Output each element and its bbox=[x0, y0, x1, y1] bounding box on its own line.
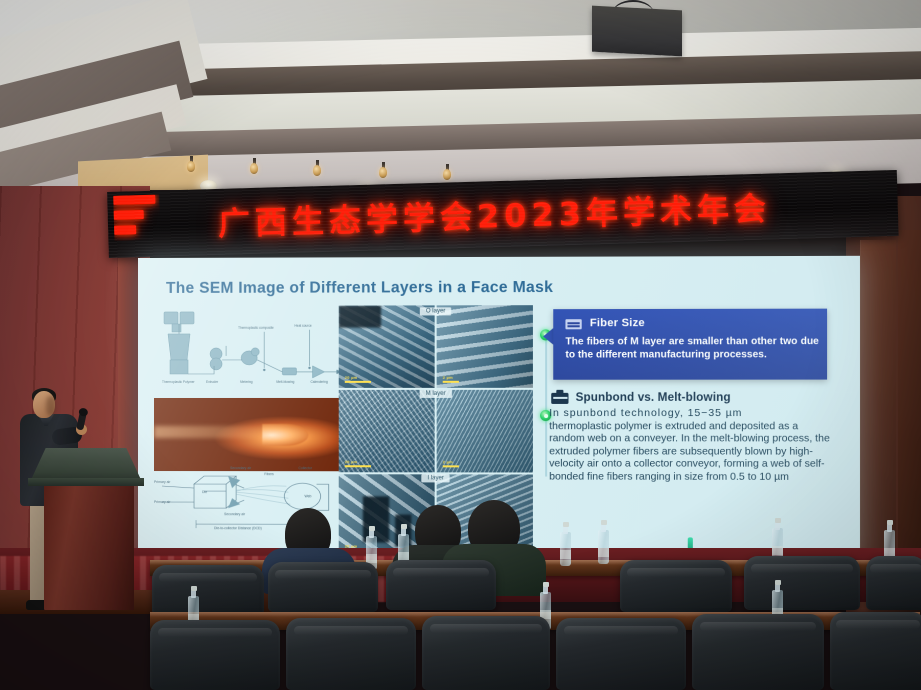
flow-label-meltblowing: Melt-blowing bbox=[276, 380, 294, 384]
sem-scale-value: 20 µm bbox=[345, 460, 358, 465]
spotlight-icon bbox=[186, 156, 196, 174]
flow-label-calendering: Calendering bbox=[311, 380, 328, 384]
sem-scalebar-o-left: 20 µm bbox=[345, 375, 371, 383]
callout-body-text: The fibers of M layer are smaller than o… bbox=[565, 335, 818, 362]
die-label-web: Web bbox=[304, 494, 311, 498]
audience-chair bbox=[268, 562, 378, 612]
water-bottle bbox=[560, 532, 571, 566]
fiber-size-callout: Fiber Size The fibers of M layer are sma… bbox=[553, 309, 827, 380]
audience-chair bbox=[692, 614, 824, 690]
credit-card-icon bbox=[565, 319, 581, 329]
led-banner-cutoff-text bbox=[113, 195, 160, 241]
ceiling-projector bbox=[592, 6, 682, 57]
flow-label-polymer: Thermoplastic Polymer bbox=[162, 380, 195, 384]
flow-annotation-composite: Thermoplastic composite bbox=[238, 326, 274, 330]
audience-chair bbox=[620, 560, 732, 612]
audience-chair bbox=[150, 620, 280, 690]
audience-chair bbox=[830, 612, 921, 690]
audience-chair bbox=[386, 560, 496, 610]
sem-scale-value: 2 µm bbox=[443, 460, 453, 465]
flow-diagram-svg bbox=[154, 308, 341, 398]
spunbond-process-flow-diagram: Thermoplastic Polymer Extruder Metering … bbox=[154, 308, 341, 398]
die-label-fibers: Fibers bbox=[264, 472, 273, 476]
audience-chair bbox=[556, 618, 686, 690]
sem-scale-value: 2 µm bbox=[443, 375, 453, 380]
callout-heading: Fiber Size bbox=[590, 317, 645, 329]
die-label-primary-air-top: Primary air bbox=[154, 480, 170, 484]
spunbond-heading: Spunbond vs. Melt-blowing bbox=[576, 392, 731, 404]
flow-label-metering: Metering bbox=[240, 380, 252, 384]
die-label-collector: Collector bbox=[298, 466, 311, 470]
sem-layer-label-middle: M layer bbox=[420, 390, 452, 398]
spunbond-section: Spunbond vs. Melt-blowing In spunbond te… bbox=[549, 392, 835, 485]
melt-nozzle-highlight bbox=[262, 424, 308, 446]
sem-scalebar-m-left: 20 µm bbox=[345, 460, 371, 468]
podium-lip bbox=[28, 478, 144, 486]
die-label-secondary-air-bottom: Secondary air bbox=[224, 512, 245, 516]
audience-chair bbox=[744, 556, 860, 610]
slide-title: The SEM Image of Different Layers in a F… bbox=[166, 279, 553, 298]
spunbond-heading-row: Spunbond vs. Melt-blowing bbox=[549, 392, 835, 404]
spunbond-body: In spunbond technology, 15−35 µm thermop… bbox=[549, 408, 835, 485]
spotlight-icon bbox=[249, 158, 259, 176]
sem-scale-value: 20 µm bbox=[345, 375, 358, 380]
die-label-dcd: Die-to-collector Distance (DCD) bbox=[214, 526, 262, 530]
sem-layer-label-outer: O layer bbox=[420, 307, 452, 315]
water-bottle bbox=[598, 530, 609, 564]
die-label-die: Die bbox=[202, 490, 207, 494]
conference-room-photo: 广西生态学学会2023年学术年会 The SEM Image of Differ… bbox=[0, 0, 921, 690]
speaker-face-shading bbox=[46, 396, 56, 416]
spotlight-icon bbox=[442, 164, 452, 182]
flow-annotation-heat: Heat source bbox=[294, 324, 311, 328]
audience-chair bbox=[866, 556, 921, 610]
spotlight-icon bbox=[312, 160, 322, 178]
sem-scalebar-o-right: 2 µm bbox=[443, 375, 459, 383]
sem-layer-label-inner: I layer bbox=[421, 474, 450, 482]
toolbox-icon bbox=[551, 393, 568, 404]
audience-chair bbox=[152, 565, 264, 615]
led-banner-text: 广西生态学学会2023年学术年会 bbox=[217, 183, 771, 244]
die-label-secondary-air-top: Secondary air bbox=[230, 466, 251, 470]
sem-panel-o-right: 2 µm bbox=[437, 305, 533, 388]
callout-connector-line bbox=[545, 335, 547, 476]
audience-chair bbox=[286, 618, 416, 690]
spunbond-body-line1: In spunbond technology, 15−35 µm bbox=[549, 408, 835, 421]
sem-panel-o-left: 20 µm bbox=[339, 305, 435, 388]
flow-label-extruder: Extruder bbox=[206, 380, 218, 384]
sem-panel-m-right: 2 µm bbox=[437, 390, 533, 473]
spotlight-icon bbox=[378, 162, 388, 180]
podium-body bbox=[44, 470, 134, 610]
sem-scalebar-m-right: 2 µm bbox=[443, 460, 459, 468]
die-label-primary-air-bottom: Primary air bbox=[154, 500, 170, 504]
right-wall-wood-panel-edge bbox=[898, 230, 921, 580]
podium-top-surface bbox=[30, 448, 142, 482]
audience-chair bbox=[422, 616, 550, 690]
sem-panel-m-left: 20 µm bbox=[339, 390, 435, 472]
spunbond-body-rest: thermoplastic polymer is extruded and de… bbox=[549, 421, 830, 483]
